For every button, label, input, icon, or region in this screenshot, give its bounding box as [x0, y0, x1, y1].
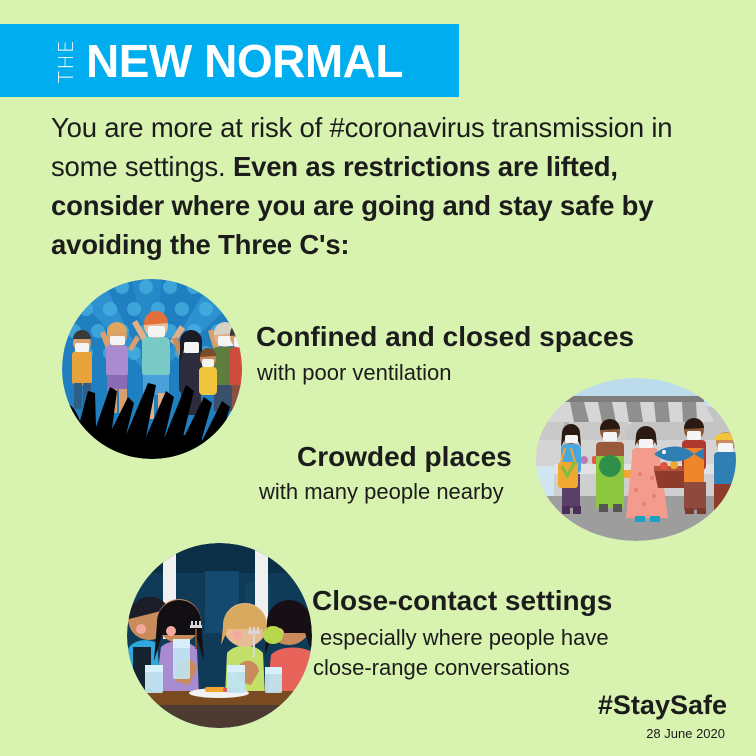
header-kicker-text: THE — [54, 38, 78, 82]
dining-illustration-svg — [127, 543, 312, 728]
item-title-close-contact: Close-contact settings — [312, 585, 612, 617]
intro-paragraph: You are more at risk of #coronavirus tra… — [51, 108, 711, 264]
hashtag-staysafe: #StaySafe — [598, 690, 727, 721]
item-subtitle-crowded-places: with many people nearby — [259, 479, 504, 505]
item-subtitle-confined-spaces: with poor ventilation — [257, 360, 451, 386]
item-title-crowded-places: Crowded places — [297, 441, 512, 473]
item-title-confined-spaces: Confined and closed spaces — [256, 321, 634, 353]
illustration-confined-spaces — [62, 279, 242, 459]
page-title: NEW NORMAL — [86, 34, 403, 88]
date-stamp: 28 June 2020 — [646, 726, 725, 741]
nightclub-illustration-svg — [62, 279, 242, 459]
header-banner: THE NEW NORMAL — [0, 24, 459, 97]
illustration-close-contact — [127, 543, 312, 728]
infographic-poster: THE NEW NORMAL You are more at risk of #… — [0, 0, 756, 756]
item-subtitle-close-contact-line2: close-range conversations — [313, 655, 570, 681]
header-kicker: THE — [52, 24, 80, 97]
item-subtitle-close-contact-line1: especially where people have — [320, 625, 609, 651]
market-illustration-svg — [536, 378, 736, 541]
illustration-crowded-places — [536, 378, 736, 541]
